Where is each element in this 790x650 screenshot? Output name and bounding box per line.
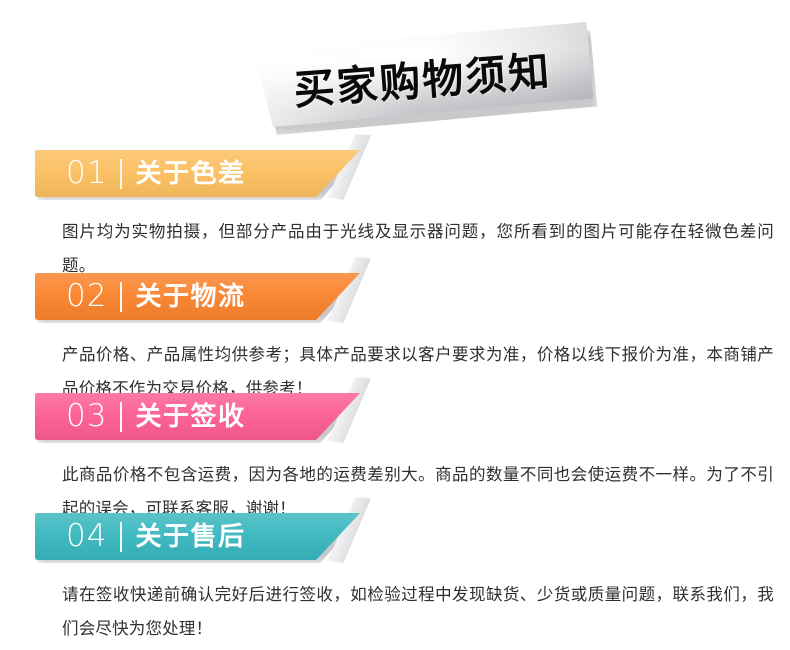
section-04-heading-bar: 04 关于售后 — [35, 513, 390, 560]
section-04-label: 关于售后 — [135, 524, 245, 550]
section-04-number: 04 — [66, 521, 107, 552]
section-02-divider-icon — [120, 282, 122, 312]
section-01-label: 关于色差 — [135, 161, 245, 187]
section-01-number: 01 — [66, 158, 107, 189]
section-02: 02 关于物流 产品价格、产品属性均供参考；具体产品要求以客户要求为准，价格以线… — [0, 273, 790, 406]
section-03-bar: 03 关于签收 — [35, 393, 360, 440]
section-03: 03 关于签收 此商品价格不包含运费，因为各地的运费差别大。商品的数量不同也会使… — [0, 393, 790, 526]
section-01-bar: 01 关于色差 — [35, 150, 360, 197]
section-04-body: 请在签收快递前确认完好后进行签收，如检验过程中发现缺货、少货或质量问题，联系我们… — [62, 578, 774, 646]
section-01: 01 关于色差 图片均为实物拍摄，但部分产品由于光线及显示器问题，您所看到的图片… — [0, 150, 790, 283]
section-02-heading-bar: 02 关于物流 — [35, 273, 390, 320]
section-04-divider-icon — [120, 522, 122, 552]
page-title: 买家购物须知 — [243, 11, 602, 143]
section-02-bar: 02 关于物流 — [35, 273, 360, 320]
shopping-notice-page: 买家购物须知 01 关于色差 图片均为实物拍摄，但部分产品由于光线及显示器问题，… — [0, 0, 790, 650]
section-01-heading-bar: 01 关于色差 — [35, 150, 390, 197]
section-03-label: 关于签收 — [135, 404, 245, 430]
section-04: 04 关于售后 请在签收快递前确认完好后进行签收，如检验过程中发现缺货、少货或质… — [0, 513, 790, 646]
section-03-heading-bar: 03 关于签收 — [35, 393, 390, 440]
section-02-label: 关于物流 — [135, 284, 245, 310]
page-header-banner: 买家购物须知 — [243, 22, 595, 128]
section-03-number: 03 — [66, 401, 107, 432]
section-01-divider-icon — [120, 159, 122, 189]
section-04-bar: 04 关于售后 — [35, 513, 360, 560]
section-03-divider-icon — [120, 402, 122, 432]
section-02-number: 02 — [66, 281, 107, 312]
